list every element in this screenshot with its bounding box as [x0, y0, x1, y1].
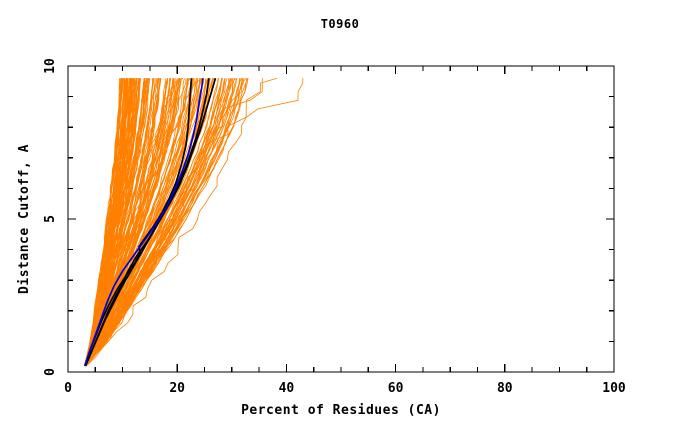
- x-tick-label-40: 40: [279, 381, 295, 396]
- x-tick-label-100: 100: [602, 381, 626, 396]
- y-tick-label-0: 0: [43, 368, 58, 376]
- series-layer-predictions: [84, 78, 303, 366]
- x-tick-label-60: 60: [388, 381, 404, 396]
- y-tick-label-5: 5: [43, 215, 58, 223]
- x-axis-title: Percent of Residues (CA): [241, 403, 441, 418]
- y-axis-title: Distance Cutoff, A: [17, 144, 32, 294]
- chart-figure: T0960 0204060801000510 Percent of Residu…: [0, 0, 680, 440]
- x-tick-label-80: 80: [497, 381, 513, 396]
- x-tick-label-20: 20: [169, 381, 185, 396]
- x-tick-label-0: 0: [64, 381, 72, 396]
- y-tick-label-10: 10: [43, 58, 58, 74]
- chart-title: T0960: [321, 17, 360, 31]
- chart-svg: T0960 0204060801000510 Percent of Residu…: [0, 0, 680, 440]
